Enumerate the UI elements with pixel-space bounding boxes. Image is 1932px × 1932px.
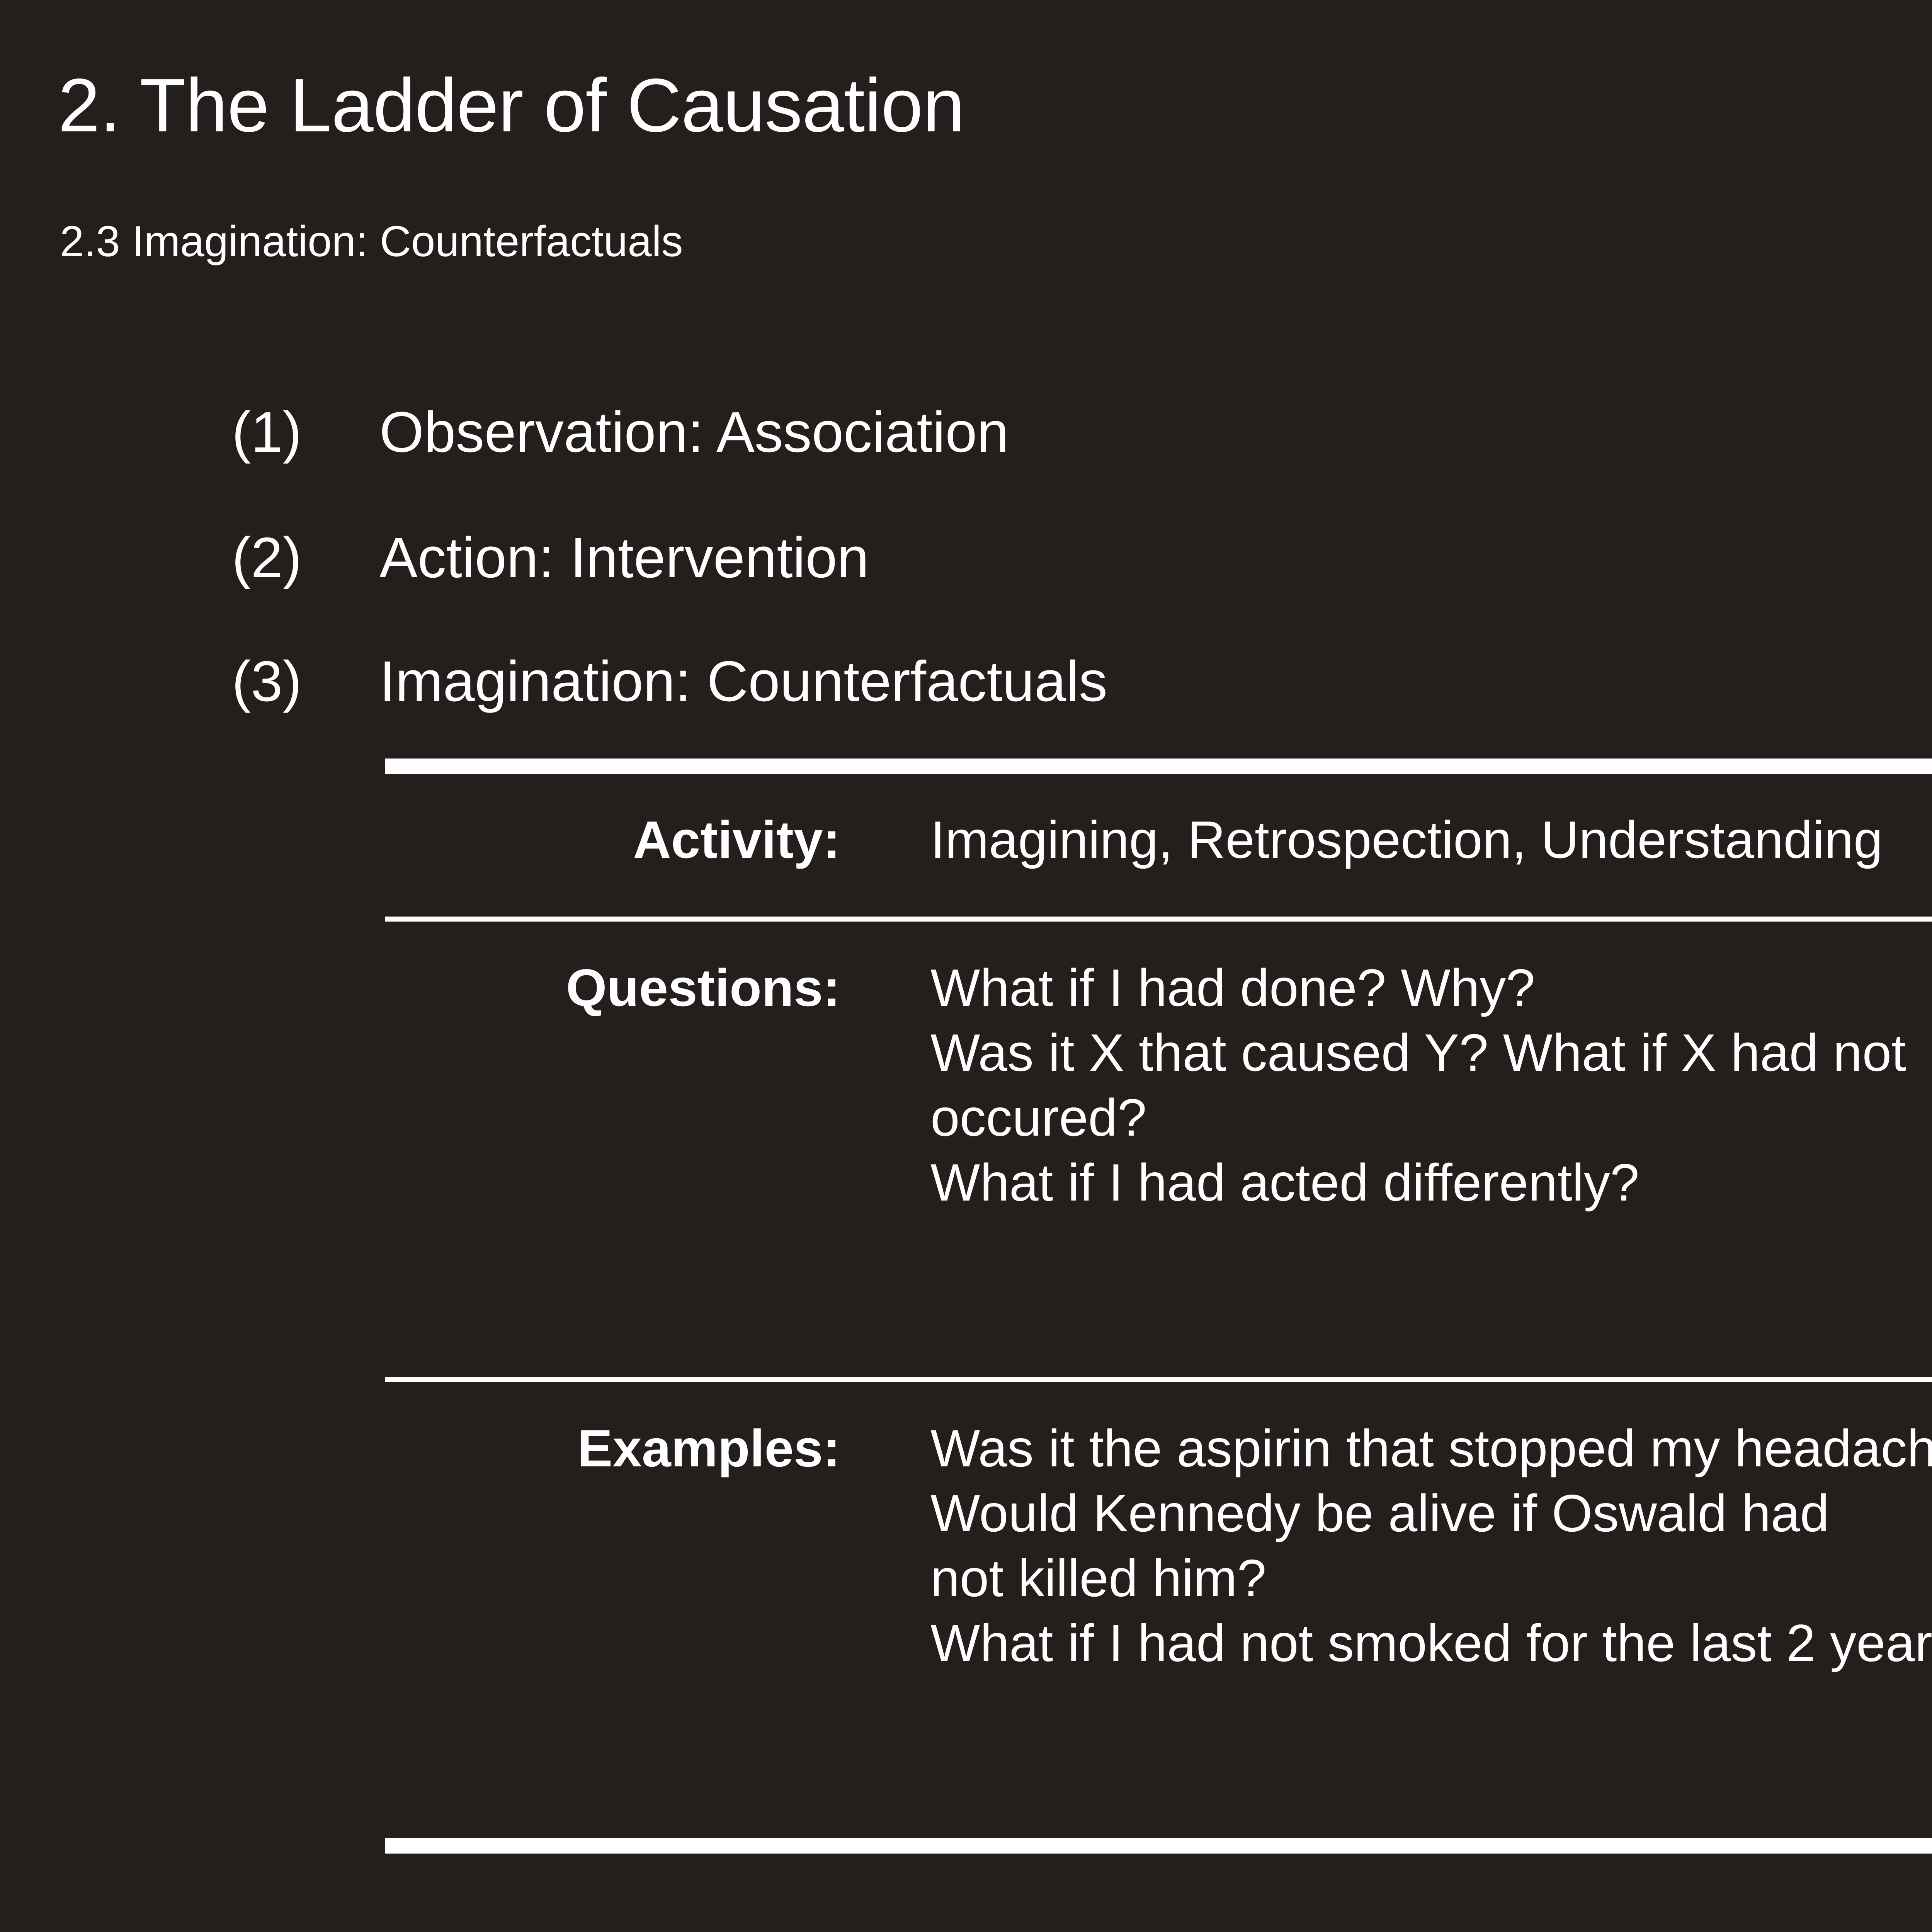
table-cell-line: What if I had not smoked for the last 2 …: [930, 1617, 1932, 1674]
table-cell-line: Imagining, Retrospection, Understanding: [930, 813, 1932, 871]
table-row-values-questions: What if I had done? Why? Was it X that c…: [930, 961, 1932, 1221]
list-item-number: (2): [232, 529, 371, 587]
table-cell-line: What if I had done? Why?: [930, 961, 1932, 1019]
table-cell-line: Was it the aspirin that stopped my heada…: [930, 1422, 1932, 1479]
table-cell-line: occured?: [930, 1091, 1932, 1148]
table-cell-line: What if I had acted differently?: [930, 1156, 1932, 1213]
table-cell-line: Would Kennedy be alive if Oswald had: [930, 1487, 1932, 1544]
list-item-number: (1): [232, 404, 371, 461]
table-mid-rule-2: [385, 1377, 1932, 1382]
table-top-rule: [385, 759, 1932, 774]
table-mid-rule-1: [385, 917, 1932, 922]
table-row-label-examples: Examples:: [386, 1422, 840, 1475]
list-item-label: Action: Intervention: [379, 529, 869, 587]
table-row-values-examples: Was it the aspirin that stopped my heada…: [930, 1422, 1932, 1682]
list-item-label: Observation: Association: [379, 404, 1009, 461]
table-row-values-activity: Imagining, Retrospection, Understanding: [930, 813, 1932, 878]
table-row-label-activity: Activity:: [386, 813, 840, 866]
table-bottom-rule: [385, 1838, 1932, 1854]
table-cell-line: not killed him?: [930, 1552, 1932, 1609]
table-row-label-questions: Questions:: [386, 961, 840, 1014]
list-item-number: (3): [232, 653, 371, 710]
page-subtitle: 2.3 Imagination: Counterfactuals: [60, 216, 683, 266]
list-item-label: Imagination: Counterfactuals: [379, 653, 1107, 710]
table-cell-line: Was it X that caused Y? What if X had no…: [930, 1026, 1932, 1083]
page-title: 2. The Ladder of Causation: [58, 62, 964, 149]
